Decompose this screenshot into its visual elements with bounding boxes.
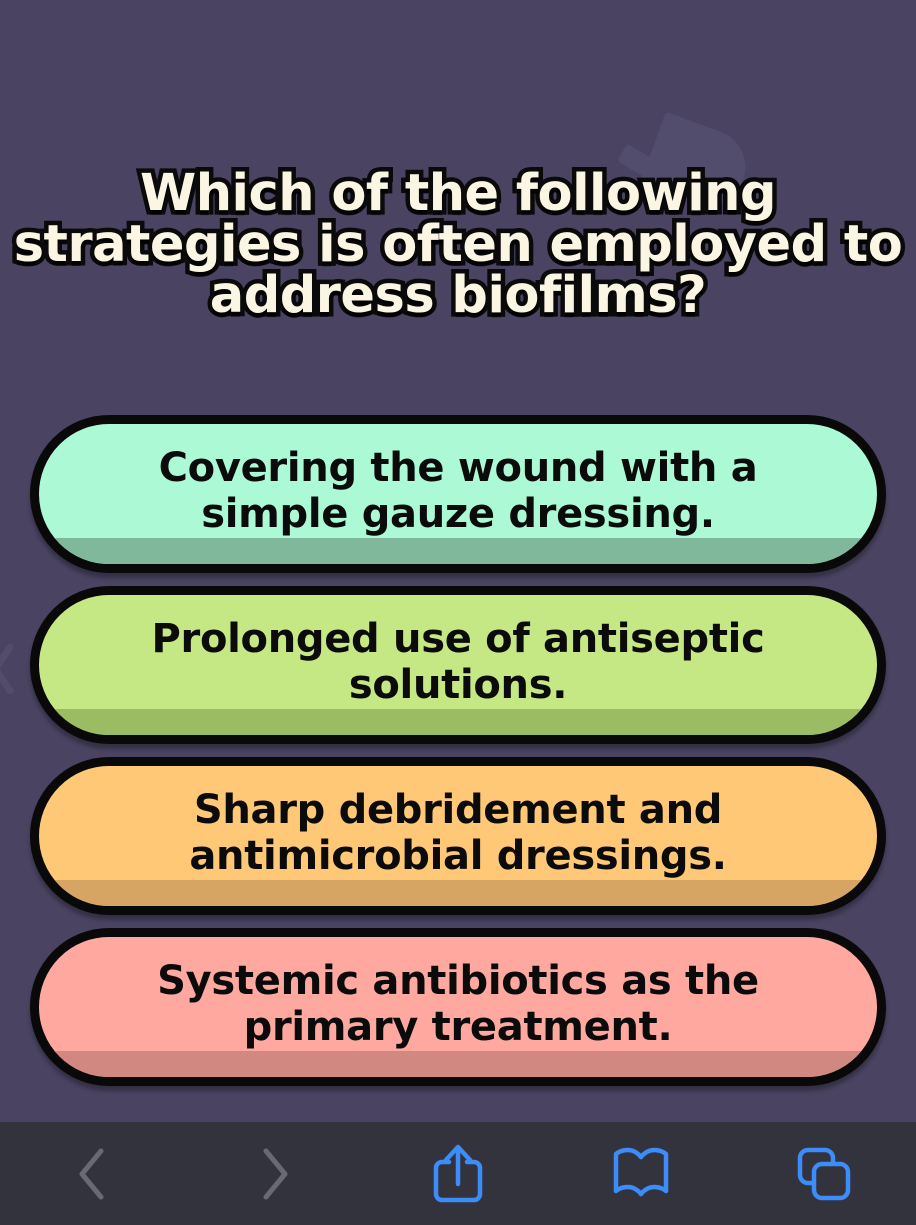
back-button[interactable] [0, 1122, 183, 1225]
answer-option-4[interactable]: Systemic antibiotics as the primary trea… [30, 928, 886, 1086]
chevron-left-icon [75, 1146, 109, 1202]
tabs-button[interactable] [733, 1122, 916, 1225]
answer-option-2[interactable]: Prolonged use of antiseptic solutions. [30, 586, 886, 744]
question-text: Which of the following strategies is oft… [0, 168, 916, 321]
answer-option-2-label: Prolonged use of antiseptic solutions. [96, 616, 821, 708]
book-icon [611, 1146, 671, 1202]
answer-option-3[interactable]: Sharp debridement and antimicrobial dres… [30, 757, 886, 915]
tabs-icon [795, 1145, 853, 1203]
answer-option-4-label: Systemic antibiotics as the primary trea… [101, 958, 815, 1050]
browser-toolbar [0, 1122, 916, 1225]
share-button[interactable] [366, 1122, 549, 1225]
forward-button[interactable] [183, 1122, 366, 1225]
answer-option-1-label: Covering the wound with a simple gauze d… [103, 445, 814, 537]
bookmarks-button[interactable] [550, 1122, 733, 1225]
answer-option-1[interactable]: Covering the wound with a simple gauze d… [30, 415, 886, 573]
share-icon [430, 1142, 486, 1206]
chevron-right-icon [258, 1146, 292, 1202]
answer-options-list: Covering the wound with a simple gauze d… [0, 415, 916, 1099]
answer-option-3-label: Sharp debridement and antimicrobial dres… [133, 787, 782, 879]
quiz-screen: Which of the following strategies is oft… [0, 0, 916, 1225]
